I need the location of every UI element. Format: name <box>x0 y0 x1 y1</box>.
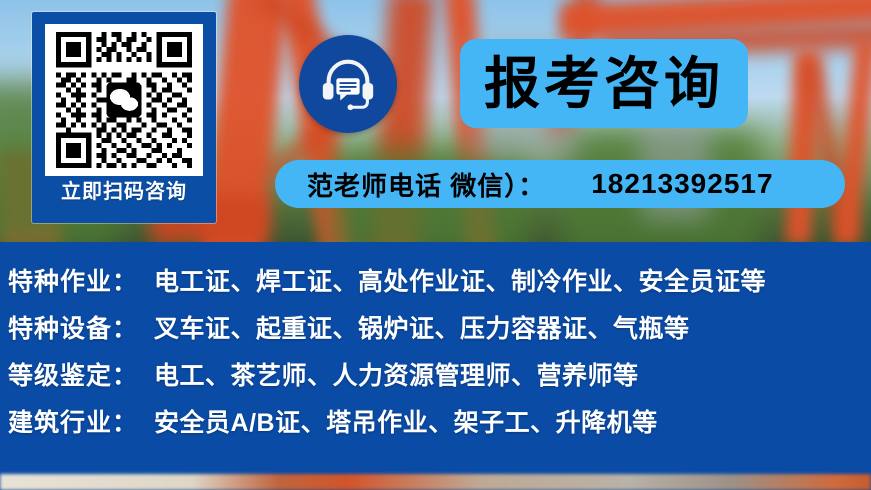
headset-support-icon <box>317 53 379 115</box>
category-row: 等级鉴定： 电工、茶艺师、人力资源管理师、营养师等 <box>8 356 639 392</box>
contact-label: 范老师电话 微信）： <box>307 166 545 203</box>
category-row: 特种作业： 电工证、焊工证、高处作业证、制冷作业、安全员证等 <box>8 262 766 298</box>
qr-code-card[interactable]: 立即扫码咨询 <box>32 12 216 223</box>
title-banner: 报考咨询 <box>460 39 748 128</box>
category-name: 等级鉴定： <box>8 356 138 392</box>
category-name: 特种设备： <box>8 309 138 345</box>
category-name: 特种作业： <box>8 262 138 298</box>
wechat-qr-code-icon <box>51 27 197 173</box>
category-items: 电工证、焊工证、高处作业证、制冷作业、安全员证等 <box>154 262 766 298</box>
contact-phone-number[interactable]: 18213392517 <box>591 168 773 200</box>
support-badge[interactable] <box>299 35 397 133</box>
category-items: 电工、茶艺师、人力资源管理师、营养师等 <box>154 356 639 392</box>
contact-banner[interactable]: 范老师电话 微信）： 18213392517 <box>275 160 845 208</box>
qr-code-image-frame <box>45 24 203 176</box>
promo-poster: 立即扫码咨询 报考咨询 范老师电话 微信）： 1821339 <box>0 0 871 490</box>
category-name: 建筑行业： <box>8 403 138 439</box>
category-items: 叉车证、起重证、锅炉证、压力容器证、气瓶等 <box>154 309 690 345</box>
qr-caption-text: 立即扫码咨询 <box>61 182 187 202</box>
category-row: 建筑行业： 安全员A/B证、塔吊作业、架子工、升降机等 <box>8 403 658 439</box>
page-title: 报考咨询 <box>484 56 724 112</box>
category-row: 特种设备： 叉车证、起重证、锅炉证、压力容器证、气瓶等 <box>8 309 690 345</box>
bottom-photo-strip <box>0 474 871 490</box>
category-items: 安全员A/B证、塔吊作业、架子工、升降机等 <box>154 403 658 439</box>
certificate-category-panel: 特种作业： 电工证、焊工证、高处作业证、制冷作业、安全员证等 特种设备： 叉车证… <box>0 242 871 472</box>
